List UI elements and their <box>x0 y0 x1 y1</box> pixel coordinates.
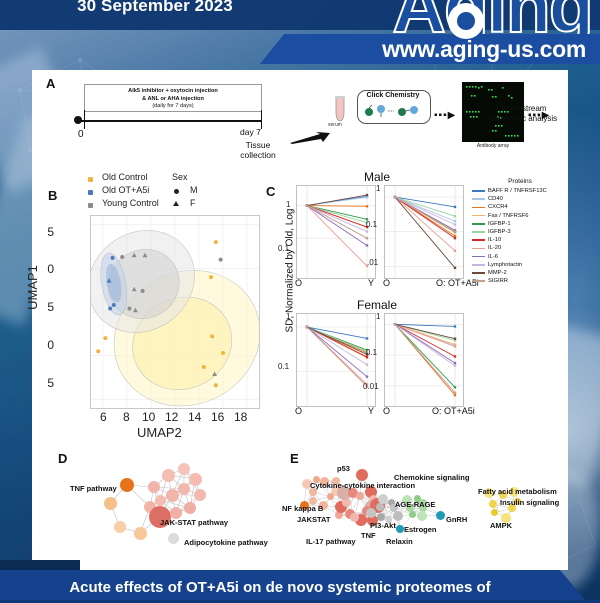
c-fr-ytick-1: 0.1 <box>366 348 377 357</box>
serum-tube-icon <box>332 96 348 122</box>
legend-swatch-young-control <box>88 203 93 208</box>
timeline-tick-day0 <box>84 110 85 129</box>
d-network-node[interactable] <box>162 469 175 482</box>
tissue-arrow-icon <box>290 132 330 144</box>
panel-a-timeline <box>77 120 262 122</box>
b-axis-label-y: UMAP1 <box>25 265 40 310</box>
tissue-collection-label: Tissue collection <box>228 140 288 160</box>
c-title-male: Male <box>292 170 462 184</box>
c-legend-item[interactable]: IGFBP-1 <box>472 220 568 228</box>
c-plot-female-right[interactable] <box>384 313 464 407</box>
e-label-p53: p53 <box>337 464 350 473</box>
c-protein-legend: Proteins BAFF R / TNFRSF13CCD40CXCR4Fas … <box>472 178 568 285</box>
timeline-tick-day7 <box>261 110 262 129</box>
c-plot-female-left[interactable] <box>296 313 376 407</box>
d-network-node[interactable] <box>166 489 179 502</box>
d-network-node[interactable] <box>104 497 117 510</box>
c-title-female: Female <box>292 298 462 312</box>
e-label-cytokine-cytokine-interaction: Cytokine-cytokine interaction <box>310 481 415 490</box>
d-network-node[interactable] <box>114 521 126 533</box>
e-network-node[interactable] <box>436 511 445 520</box>
c-axis-label-y: SD, Normalized by Old, Log <box>285 191 296 351</box>
panel-e: E p53 Chemokine signaling Cytokine-cytok… <box>282 445 568 570</box>
c-legend-swatch <box>472 215 485 217</box>
c-legend-swatch <box>472 280 485 282</box>
c-legend-title: Proteins <box>472 178 568 185</box>
website-url[interactable]: www.aging-us.com <box>382 34 586 64</box>
c-fr-xtick-1: O: OT+A5i <box>432 406 475 416</box>
e-network-node[interactable] <box>356 492 364 500</box>
antibody-array-caption: Antibody array <box>462 143 524 149</box>
e-label-jakstat: JAKSTAT <box>297 515 330 524</box>
e-network-node[interactable] <box>327 493 334 500</box>
legend-label-young-control: Young Control <box>102 198 159 208</box>
c-legend-swatch <box>472 190 485 192</box>
c-fr-xtick-0: O <box>383 406 390 416</box>
timeline-label-zero: 0 <box>78 129 84 140</box>
c-female-left-svg <box>297 314 375 406</box>
e-network-node[interactable] <box>417 511 427 521</box>
treatment-line-3: (daily for 7 days) <box>85 103 261 111</box>
c-legend-item[interactable]: CXCR4 <box>472 203 568 211</box>
c-legend-swatch <box>472 264 485 266</box>
c-legend-item[interactable]: Fas / TNFRSF6 <box>472 212 568 220</box>
d-network-node[interactable] <box>184 502 196 514</box>
legend-title-sex: Sex <box>172 172 188 182</box>
c-legend-label: Lymphotactin <box>488 262 522 268</box>
c-fl-xtick-1: Y <box>368 406 374 416</box>
c-legend-swatch <box>472 272 485 274</box>
e-network-node[interactable] <box>350 513 359 522</box>
c-mr-xtick-0: O <box>383 278 390 288</box>
c-legend-label: SIGIRR <box>488 278 508 284</box>
c-legend-swatch <box>472 256 485 258</box>
e-label-ampk: AMPK <box>490 521 512 530</box>
umap-scatter-plot[interactable] <box>90 215 260 409</box>
c-legend-item[interactable]: BAFF R / TNFRSF13C <box>472 187 568 195</box>
panel-d: D TNF pathway JAK-STAT pathway Adipocyto… <box>32 445 282 570</box>
c-ml-ytick-1: 0.1 <box>278 244 289 253</box>
legend-label-old-control: Old Control <box>102 172 148 182</box>
treatment-line-1: Alk5 inhibitor + oxytocin injection <box>85 88 261 96</box>
c-fr-ytick-2: 0.01 <box>363 382 379 391</box>
d-network-node[interactable] <box>134 527 147 540</box>
legend-label-male: M <box>190 185 198 195</box>
d-label-tnf-pathway: TNF pathway <box>70 484 117 493</box>
c-legend-label: BAFF R / TNFRSF13C <box>488 188 547 194</box>
issue-date: 30 September 2023 <box>0 0 310 21</box>
e-label-insulin-signaling: Insulin signaling <box>500 498 559 507</box>
c-legend-swatch <box>472 239 485 241</box>
d-legend-node-adipocytokine <box>168 533 179 544</box>
c-legend-item[interactable]: IGFBP-3 <box>472 228 568 236</box>
c-legend-label: MMP-2 <box>488 270 507 276</box>
c-mr-ytick-0: 1 <box>376 184 380 193</box>
timeline-label-day7: day 7 <box>240 127 261 137</box>
e-network-node[interactable] <box>489 500 497 508</box>
d-network-node[interactable] <box>178 483 190 495</box>
b-axis-label-x: UMAP2 <box>137 425 182 440</box>
tissue-line-2: collection <box>228 150 288 160</box>
d-label-adipocytokine-pathway: Adipocytokine pathway <box>184 538 268 547</box>
c-legend-swatch <box>472 223 485 225</box>
e-label-tnf: TNF <box>361 531 376 540</box>
c-ml-xtick-1: Y <box>368 278 374 288</box>
panel-a-treatment-box: Alk5 inhibitor + oxytocin injection & AN… <box>84 84 262 112</box>
downstream-line-1: Downstream <box>480 104 568 114</box>
downstream-line-2: proteomic analysis <box>480 114 568 124</box>
c-legend-label: CXCR4 <box>488 204 508 210</box>
e-label-il-17-pathway: IL-17 pathway <box>306 537 356 546</box>
c-legend-item[interactable]: IL-6 <box>472 253 568 261</box>
c-male-right-svg <box>385 186 463 278</box>
c-legend-item[interactable]: SIGIRR <box>472 277 568 285</box>
c-legend-swatch <box>472 198 485 200</box>
legend-swatch-old-control <box>88 177 93 182</box>
b-ytick-4: 5 <box>47 376 54 390</box>
c-legend-swatch <box>472 207 485 209</box>
panel-c: C SD, Normalized by Old, Log Male Female… <box>264 170 568 445</box>
c-legend-label: Fas / TNFRSF6 <box>488 213 528 219</box>
c-legend-swatch <box>472 248 485 250</box>
c-plot-male-left[interactable] <box>296 185 376 279</box>
e-network-node[interactable] <box>356 469 368 481</box>
click-chemistry-label: Click Chemistry <box>357 92 429 99</box>
c-fl-ytick-0: 1 <box>286 312 290 321</box>
c-mr-ytick-2: .01 <box>367 258 378 267</box>
panel-b: B Old Control Old OT+A5i Young Control S… <box>32 170 282 445</box>
flow-arrow-1-icon: ▪▪▪▶ <box>434 110 456 121</box>
e-label-gnrh: GnRH <box>446 515 467 524</box>
c-ml-xtick-0: O <box>295 278 302 288</box>
c-legend-item[interactable]: IL-20 <box>472 244 568 252</box>
c-female-right-svg <box>385 314 463 406</box>
e-network-node[interactable] <box>377 513 385 521</box>
c-legend-swatch <box>472 231 485 233</box>
c-fl-xtick-0: O <box>295 406 302 416</box>
click-chemistry-molecules-icon <box>362 103 424 119</box>
figure-card: A Alk5 inhibitor + oxytocin injection & … <box>32 70 568 570</box>
c-plot-male-right[interactable] <box>384 185 464 279</box>
c-legend-label: IGFBP-1 <box>488 221 511 227</box>
c-legend-label: IGFBP-3 <box>488 229 511 235</box>
d-network-node[interactable] <box>120 478 134 492</box>
b-ytick-1: 0 <box>47 262 54 276</box>
c-legend-rows: BAFF R / TNFRSF13CCD40CXCR4Fas / TNFRSF6… <box>472 187 568 285</box>
b-ytick-3: 0 <box>47 338 54 352</box>
treatment-line-2: & ANL or AHA injection <box>85 96 261 104</box>
panel-a: A Alk5 inhibitor + oxytocin injection & … <box>32 70 568 170</box>
e-network-node[interactable] <box>396 525 404 533</box>
d-network-node[interactable] <box>189 473 202 486</box>
downstream-analysis-label: Downstream proteomic analysis <box>480 104 568 124</box>
d-label-jak-stat-pathway: JAK-STAT pathway <box>160 518 228 527</box>
tissue-line-1: Tissue <box>228 140 288 150</box>
c-fr-ytick-0: 1 <box>376 312 380 321</box>
legend-label-female: F <box>190 198 196 208</box>
e-label-estrogen: Estrogen <box>404 525 437 534</box>
b-ytick-2: 5 <box>47 300 54 314</box>
e-network-node[interactable] <box>376 503 384 511</box>
c-legend-label: CD40 <box>488 196 503 202</box>
b-xtick-5: 16 <box>211 410 224 424</box>
e-network-node[interactable] <box>378 494 388 504</box>
timeline-start-dot-icon <box>74 116 82 124</box>
legend-swatch-old-ot-a5i <box>88 190 93 195</box>
legend-marker-female-icon <box>173 201 179 206</box>
e-label-nf-kappa-b: NF kappa B <box>282 504 323 513</box>
e-label-fatty-acid-metabolism: Fatty acid metabolism <box>478 487 557 496</box>
d-network-node[interactable] <box>194 489 206 501</box>
c-male-left-svg <box>297 186 375 278</box>
b-xtick-2: 10 <box>142 410 155 424</box>
c-legend-label: IL-6 <box>488 254 498 260</box>
c-fl-ytick-1: 0.1 <box>278 362 289 371</box>
b-xtick-3: 12 <box>165 410 178 424</box>
c-legend-item[interactable]: IL-10 <box>472 236 568 244</box>
b-xtick-6: 18 <box>234 410 247 424</box>
c-ml-ytick-0: 1 <box>286 200 290 209</box>
legend-marker-male-icon <box>174 189 179 194</box>
c-legend-item[interactable]: Lymphotactin <box>472 261 568 269</box>
panel-c-label: C <box>266 184 275 199</box>
d-network-node[interactable] <box>148 481 160 493</box>
umap-svg <box>91 216 259 408</box>
c-legend-item[interactable]: CD40 <box>472 195 568 203</box>
legend-label-old-ot-a5i: Old OT+A5i <box>102 185 149 195</box>
article-title: Acute effects of OT+A5i on de novo syste… <box>0 573 560 603</box>
e-label-relaxin: Relaxin <box>386 537 413 546</box>
e-label-age-rage: AGE-RAGE <box>395 500 435 509</box>
d-network-node[interactable] <box>155 495 166 506</box>
c-legend-label: IL-10 <box>488 237 501 243</box>
serum-label: serum <box>328 122 342 128</box>
panel-b-label: B <box>48 188 57 203</box>
c-mr-ytick-1: 0.1 <box>366 220 377 229</box>
b-xtick-1: 8 <box>123 410 130 424</box>
panel-a-label: A <box>46 76 55 91</box>
b-ytick-0: 5 <box>47 225 54 239</box>
e-label-pi3-akt: PI3-Akt <box>370 521 396 530</box>
c-legend-item[interactable]: MMP-2 <box>472 269 568 277</box>
footer-strip <box>0 560 80 570</box>
b-xtick-0: 6 <box>100 410 107 424</box>
d-network-node[interactable] <box>178 463 190 475</box>
b-xtick-4: 14 <box>188 410 201 424</box>
c-legend-label: IL-20 <box>488 245 501 251</box>
